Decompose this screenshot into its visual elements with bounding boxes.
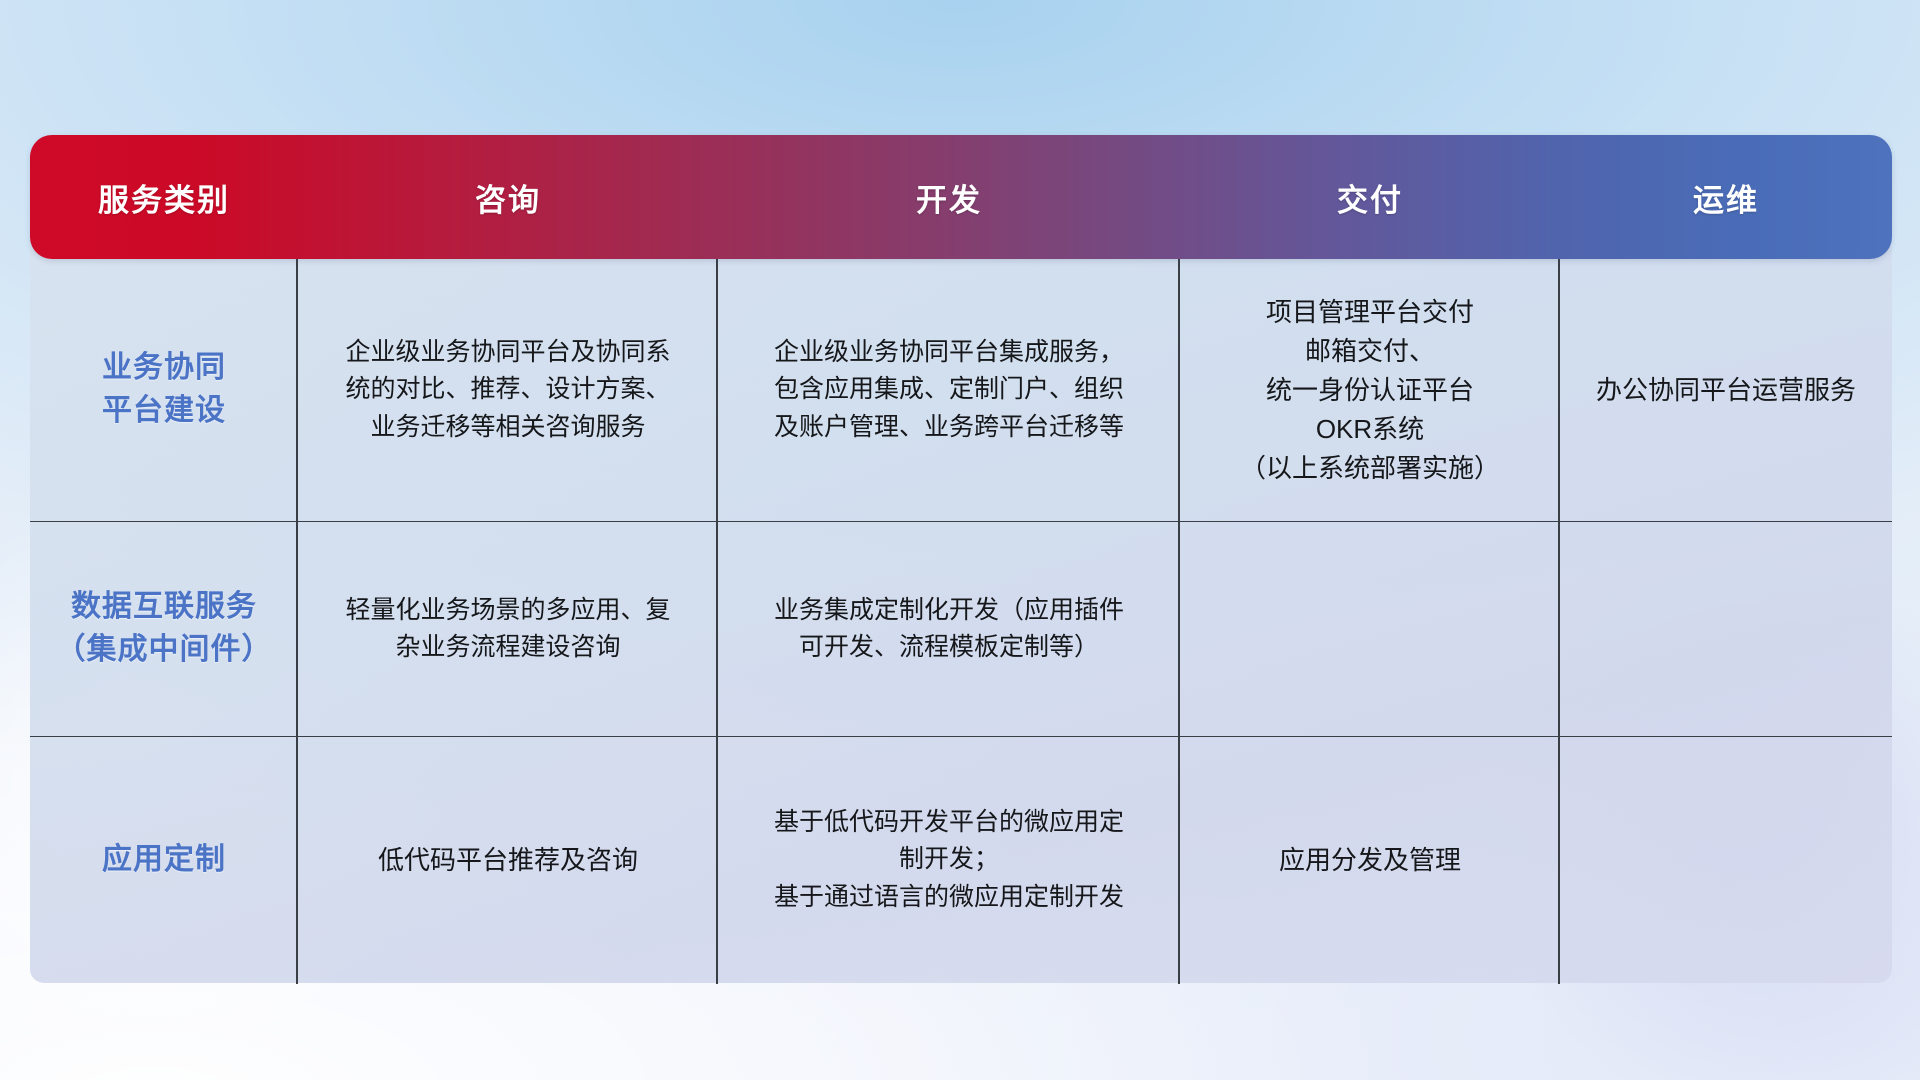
- cell-text: 企业级业务协同平台集成服务， 包含应用集成、定制门户、组织 及账户管理、业务跨平…: [774, 334, 1124, 447]
- column-header-category: 服务类别: [30, 175, 298, 220]
- cell-development: 业务集成定制化开发（应用插件 可开发、流程模板定制等）: [718, 522, 1180, 736]
- row-category-cell: 应用定制: [30, 737, 298, 983]
- column-header-delivery: 交付: [1180, 175, 1560, 220]
- row-category-cell: 数据互联服务 （集成中间件）: [30, 522, 298, 736]
- column-header-consulting: 咨询: [298, 175, 718, 220]
- cell-text: 业务集成定制化开发（应用插件 可开发、流程模板定制等）: [774, 592, 1124, 667]
- cell-operations: [1560, 522, 1892, 736]
- table-row: 数据互联服务 （集成中间件） 轻量化业务场景的多应用、复 杂业务流程建设咨询 业…: [30, 521, 1892, 736]
- cell-text: 应用分发及管理: [1279, 841, 1461, 880]
- cell-delivery: [1180, 522, 1560, 736]
- cell-text: 办公协同平台运营服务: [1596, 371, 1856, 410]
- table-header-row: 服务类别 咨询 开发 交付 运维: [30, 135, 1892, 259]
- cell-text: 低代码平台推荐及咨询: [378, 841, 638, 880]
- cell-text: 项目管理平台交付 邮箱交付、 统一身份认证平台 OKR系统 （以上系统部署实施）: [1240, 293, 1500, 488]
- table-row: 应用定制 低代码平台推荐及咨询 基于低代码开发平台的微应用定 制开发； 基于通过…: [30, 736, 1892, 983]
- cell-consulting: 企业级业务协同平台及协同系 统的对比、推荐、设计方案、 业务迁移等相关咨询服务: [298, 259, 718, 521]
- cell-development: 基于低代码开发平台的微应用定 制开发； 基于通过语言的微应用定制开发: [718, 737, 1180, 983]
- cell-delivery: 应用分发及管理: [1180, 737, 1560, 983]
- table-body: 业务协同 平台建设 企业级业务协同平台及协同系 统的对比、推荐、设计方案、 业务…: [30, 247, 1892, 983]
- cell-text: 轻量化业务场景的多应用、复 杂业务流程建设咨询: [345, 592, 670, 667]
- row-category-label: 业务协同 平台建设: [102, 347, 226, 432]
- table-row: 业务协同 平台建设 企业级业务协同平台及协同系 统的对比、推荐、设计方案、 业务…: [30, 259, 1892, 521]
- cell-text: 企业级业务协同平台及协同系 统的对比、推荐、设计方案、 业务迁移等相关咨询服务: [345, 334, 670, 447]
- column-header-development: 开发: [718, 175, 1180, 220]
- cell-consulting: 轻量化业务场景的多应用、复 杂业务流程建设咨询: [298, 522, 718, 736]
- cell-consulting: 低代码平台推荐及咨询: [298, 737, 718, 983]
- row-category-cell: 业务协同 平台建设: [30, 259, 298, 521]
- cell-text: 基于低代码开发平台的微应用定 制开发； 基于通过语言的微应用定制开发: [774, 804, 1124, 917]
- cell-delivery: 项目管理平台交付 邮箱交付、 统一身份认证平台 OKR系统 （以上系统部署实施）: [1180, 259, 1560, 521]
- cell-development: 企业级业务协同平台集成服务， 包含应用集成、定制门户、组织 及账户管理、业务跨平…: [718, 259, 1180, 521]
- row-category-label: 数据互联服务 （集成中间件）: [56, 586, 273, 671]
- row-category-label: 应用定制: [102, 839, 226, 882]
- cell-operations: 办公协同平台运营服务: [1560, 259, 1892, 521]
- service-matrix-table: 服务类别 咨询 开发 交付 运维 业务协同 平台建设 企业级业务协同平台及协同系…: [30, 135, 1892, 983]
- column-header-operations: 运维: [1560, 175, 1892, 220]
- cell-operations: [1560, 737, 1892, 983]
